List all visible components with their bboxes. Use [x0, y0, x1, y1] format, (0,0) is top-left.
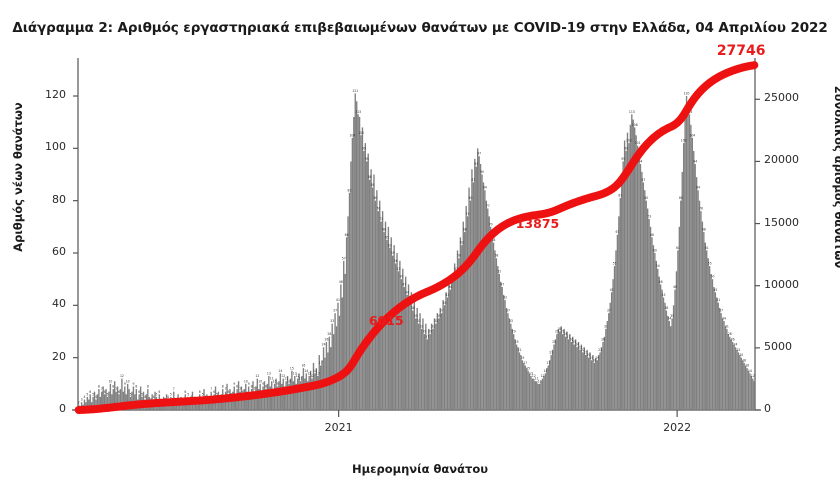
y-axis-left-tick: 60: [26, 245, 66, 258]
y-axis-right-title: Συνολικός αριθμός θανάτων: [832, 62, 840, 292]
y-axis-right-tick: 0: [764, 402, 824, 415]
y-axis-left-tick: 100: [26, 140, 66, 153]
annotation-mid-total: 13875: [516, 216, 560, 231]
y-axis-right-tick: 5000: [764, 340, 824, 353]
y-axis-left-title: Αριθμός νέων θανάτων: [11, 67, 25, 287]
y-axis-right-tick: 25000: [764, 91, 824, 104]
y-axis-left-tick: 40: [26, 297, 66, 310]
x-axis-tick: 2022: [647, 421, 707, 434]
x-axis-tick: 2021: [309, 421, 369, 434]
y-axis-right-tick: 15000: [764, 216, 824, 229]
y-axis-left-tick: 0: [26, 402, 66, 415]
y-axis-right-tick: 20000: [764, 153, 824, 166]
y-axis-left-tick: 120: [26, 88, 66, 101]
plot-area: [78, 62, 755, 410]
annotation-end-total: 27746: [717, 43, 766, 59]
y-axis-left-tick: 80: [26, 193, 66, 206]
annotation-early-total: 6015: [369, 313, 404, 328]
y-axis-right-tick: 10000: [764, 278, 824, 291]
x-axis-title: Ημερομηνία θανάτου: [0, 462, 840, 476]
y-axis-left-tick: 20: [26, 350, 66, 363]
chart-figure: Διάγραμμα 2: Αριθμός εργαστηριακά επιβεβ…: [0, 0, 840, 494]
